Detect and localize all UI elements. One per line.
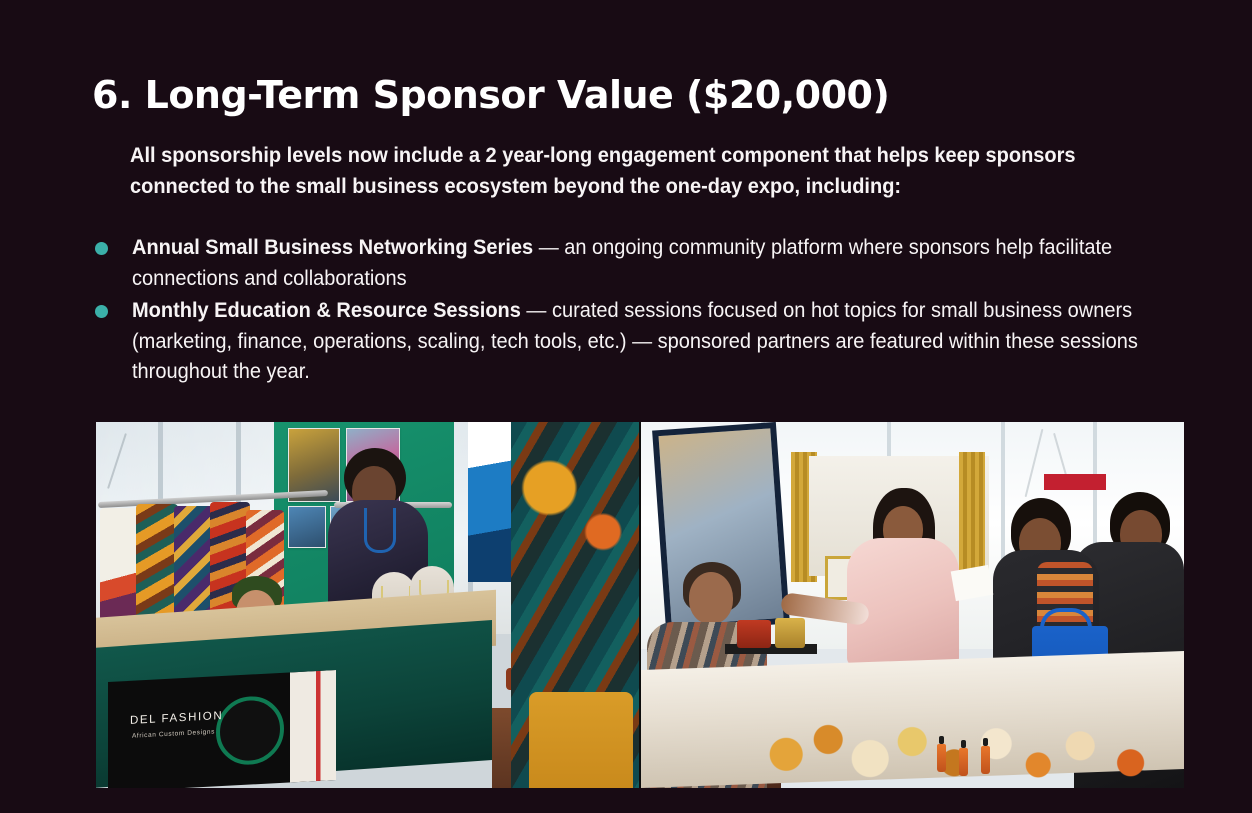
bullet-lede: Annual Small Business Networking Series [132, 235, 533, 259]
intro-paragraph: All sponsorship levels now include a 2 y… [130, 140, 1127, 201]
bullet-lede: Monthly Education & Resource Sessions [132, 298, 521, 322]
red-booth-sign [1044, 474, 1106, 490]
page-title: 6. Long-Term Sponsor Value ($20,000) [92, 76, 1192, 116]
lanyard [364, 508, 396, 553]
attendee-trousers [529, 692, 633, 788]
serum-bottle [981, 746, 990, 774]
bullet-text: Monthly Education & Resource Sessions — … [132, 295, 1204, 387]
list-item: Annual Small Business Networking Series … [92, 232, 1204, 293]
bullet-dot-icon [95, 305, 108, 318]
list-item: Monthly Education & Resource Sessions — … [92, 295, 1204, 387]
serum-bottle [959, 748, 968, 776]
booth-poster [288, 506, 326, 548]
bullet-text: Annual Small Business Networking Series … [132, 232, 1204, 293]
bottle-cap [939, 736, 944, 744]
candle-jar [775, 618, 805, 648]
banner-stripe [290, 670, 336, 782]
bottle-cap [983, 738, 988, 746]
banner-subtitle: African Custom Designs [132, 728, 215, 739]
bottle-cap [961, 740, 966, 748]
slide-canvas: 6. Long-Term Sponsor Value ($20,000) All… [0, 0, 1252, 813]
photo-right-skincare-booth [641, 422, 1184, 788]
photo-strip: DEL FASHION African Custom Designs [96, 422, 1184, 788]
banner-title: DEL FASHION [130, 710, 223, 727]
photo-left-del-fashion-booth: DEL FASHION African Custom Designs [96, 422, 639, 788]
product-jars [761, 678, 1181, 784]
candle-jar [737, 620, 771, 648]
seated-guest-head [689, 572, 733, 624]
serum-bottle [937, 744, 946, 772]
bullet-list: Annual Small Business Networking Series … [92, 232, 1204, 389]
gold-curtain [959, 452, 985, 582]
bullet-dot-icon [95, 242, 108, 255]
del-fashion-banner: DEL FASHION African Custom Designs [108, 670, 336, 788]
bullet-dash: — [533, 235, 564, 259]
del-fashion-logo [216, 695, 284, 767]
bullet-dash: — [521, 298, 552, 322]
vendor-body [847, 538, 959, 666]
